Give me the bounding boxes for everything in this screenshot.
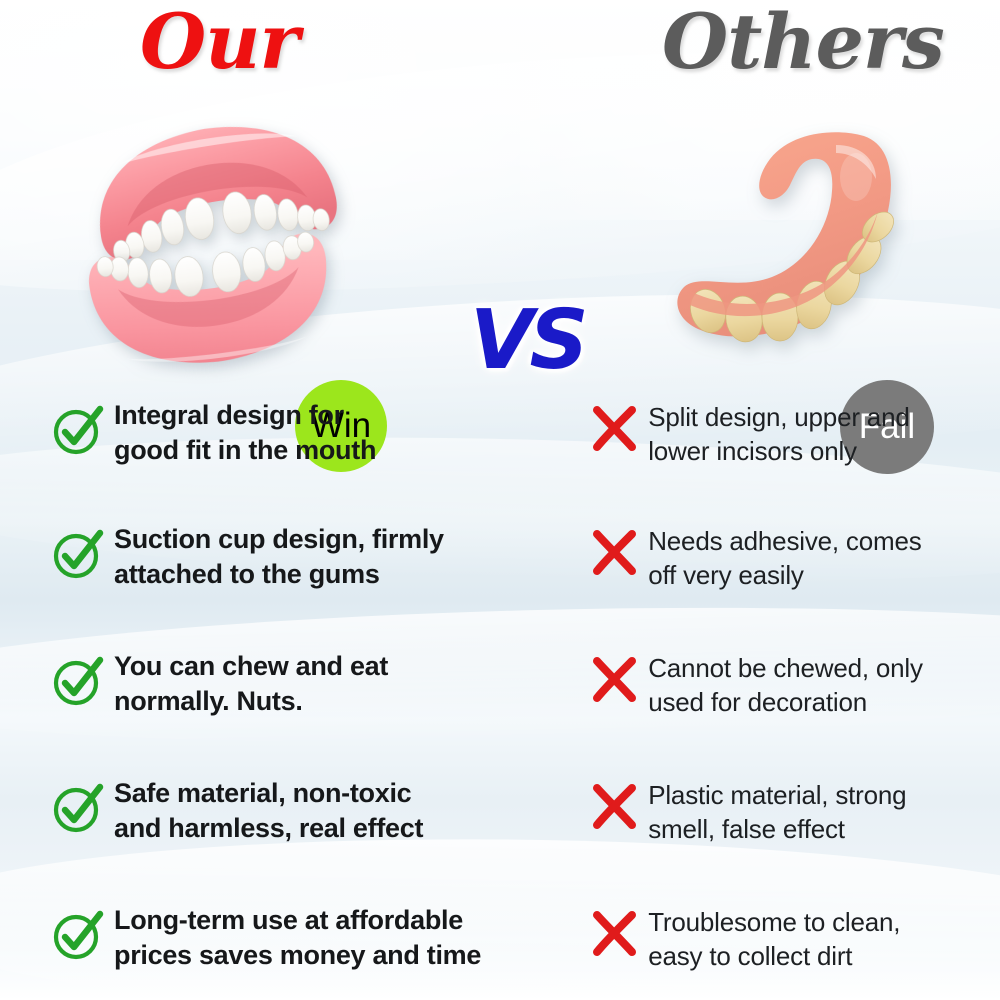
con-text: Split design, upper and lower incisors o… <box>648 392 909 469</box>
red-cross-icon <box>588 526 644 582</box>
con-text: Troublesome to clean, easy to collect di… <box>648 897 900 974</box>
green-check-circle-icon <box>50 780 106 836</box>
con-item: Needs adhesive, comes off very easily <box>543 516 1000 638</box>
our-product-image <box>78 120 348 370</box>
red-cross-icon <box>588 402 644 458</box>
pro-text: Suction cup design, firmly attached to t… <box>114 516 444 592</box>
others-title: Others <box>662 0 944 88</box>
comparison-row: You can chew and eat normally. Nuts. Can… <box>0 643 1000 765</box>
con-text: Plastic material, strong smell, false ef… <box>648 770 906 847</box>
green-check-circle-icon <box>50 907 106 963</box>
pro-item: Suction cup design, firmly attached to t… <box>0 516 543 638</box>
con-text: Cannot be chewed, only used for decorati… <box>648 643 923 720</box>
comparison-list: Integral design for good fit in the mout… <box>0 392 1000 1000</box>
pro-item: Integral design for good fit in the mout… <box>0 392 543 514</box>
comparison-row: Suction cup design, firmly attached to t… <box>0 516 1000 638</box>
con-item: Plastic material, strong smell, false ef… <box>543 770 1000 892</box>
product-image-zone: VS Win Fail <box>0 95 1000 390</box>
red-cross-icon <box>588 907 644 963</box>
red-cross-icon <box>588 780 644 836</box>
others-product-image <box>660 115 910 370</box>
pro-text: Safe material, non-toxic and harmless, r… <box>114 770 423 846</box>
comparison-row: Long-term use at affordable prices saves… <box>0 897 1000 1000</box>
comparison-row: Safe material, non-toxic and harmless, r… <box>0 770 1000 892</box>
pro-text: You can chew and eat normally. Nuts. <box>114 643 388 719</box>
comparison-infographic: Our Others <box>0 0 1000 1000</box>
pro-item: You can chew and eat normally. Nuts. <box>0 643 543 765</box>
con-text: Needs adhesive, comes off very easily <box>648 516 921 593</box>
pro-text: Long-term use at affordable prices saves… <box>114 897 481 973</box>
green-check-circle-icon <box>50 402 106 458</box>
red-cross-icon <box>588 653 644 709</box>
green-check-circle-icon <box>50 526 106 582</box>
pro-item: Safe material, non-toxic and harmless, r… <box>0 770 543 892</box>
our-title: Our <box>140 0 299 88</box>
con-item: Cannot be chewed, only used for decorati… <box>543 643 1000 765</box>
versus-mark: VS <box>470 291 600 391</box>
green-check-circle-icon <box>50 653 106 709</box>
pro-item: Long-term use at affordable prices saves… <box>0 897 543 1000</box>
header-row: Our Others <box>0 0 1000 92</box>
con-item: Troublesome to clean, easy to collect di… <box>543 897 1000 1000</box>
comparison-row: Integral design for good fit in the mout… <box>0 392 1000 514</box>
pro-text: Integral design for good fit in the mout… <box>114 392 376 468</box>
con-item: Split design, upper and lower incisors o… <box>543 392 1000 514</box>
